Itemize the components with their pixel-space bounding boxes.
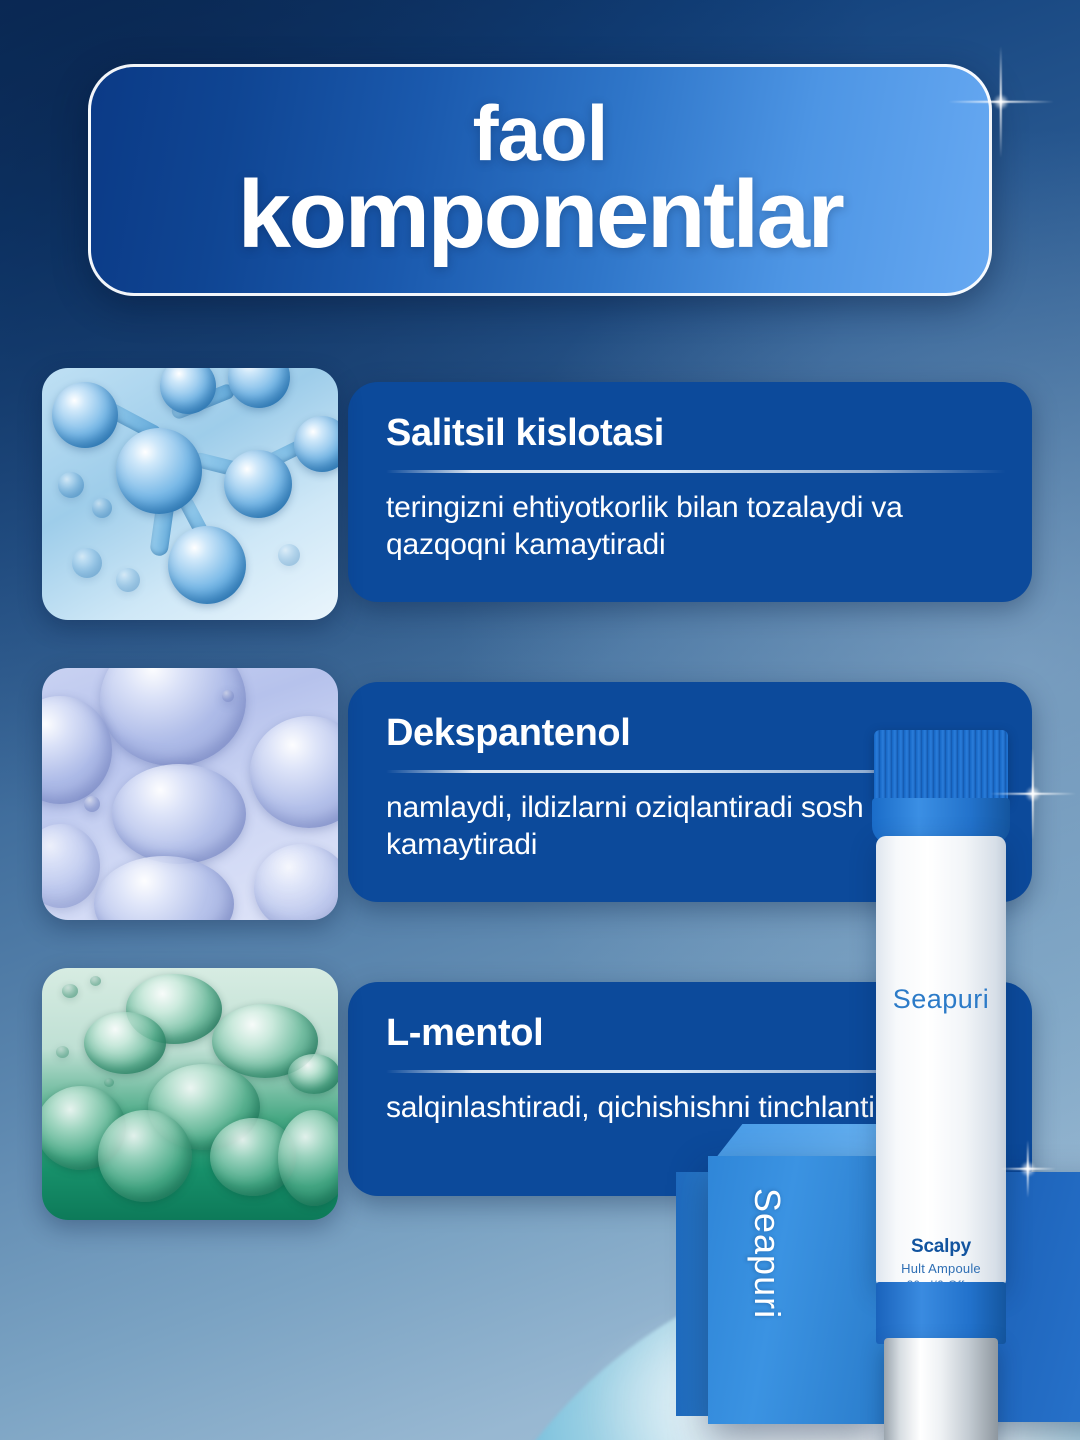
page-title-line-2: komponentlar bbox=[238, 167, 843, 263]
product-tube: Seapuri Scalpy Hult Ampoule 20ml/6-Offer bbox=[866, 730, 1016, 1420]
product-box-side-face bbox=[676, 1172, 712, 1416]
ingredient-thumbnail-3 bbox=[42, 968, 338, 1220]
ingredient-thumbnail-2 bbox=[42, 668, 338, 920]
tube-cap bbox=[874, 730, 1008, 802]
green-gel-bubbles-image bbox=[42, 968, 338, 1220]
tube-brand-label: Seapuri bbox=[876, 984, 1006, 1015]
poster-canvas: faol komponentlar Salitsil kislotasi ter… bbox=[0, 0, 1080, 1440]
card-divider bbox=[386, 470, 1006, 473]
page-title-line-1: faol bbox=[473, 97, 608, 170]
product-box-front bbox=[708, 1156, 886, 1424]
tube-body: Seapuri Scalpy Hult Ampoule 20ml/6-Offer bbox=[876, 836, 1006, 1286]
product-group: Seapuri Seapuri Scalpy Hult Ampoule 20ml… bbox=[680, 720, 1080, 1440]
tube-product-subtitle: Hult Ampoule bbox=[876, 1261, 1006, 1276]
tube-chrome-base bbox=[884, 1338, 998, 1440]
lavender-water-droplets-image bbox=[42, 668, 338, 920]
tube-blue-band bbox=[876, 1282, 1006, 1344]
ingredient-title-1: Salitsil kislotasi bbox=[386, 414, 994, 452]
product-box-brand-label: Seapuri bbox=[746, 1188, 788, 1319]
ingredient-thumbnail-1 bbox=[42, 368, 338, 620]
header-banner: faol komponentlar bbox=[88, 64, 992, 296]
blue-molecules-image bbox=[42, 368, 338, 620]
ingredient-card-1: Salitsil kislotasi teringizni ehtiyotkor… bbox=[348, 382, 1032, 602]
tube-product-name: Scalpy bbox=[876, 1236, 1006, 1258]
ingredient-description-1: teringizni ehtiyotkorlik bilan tozalaydi… bbox=[386, 489, 994, 563]
